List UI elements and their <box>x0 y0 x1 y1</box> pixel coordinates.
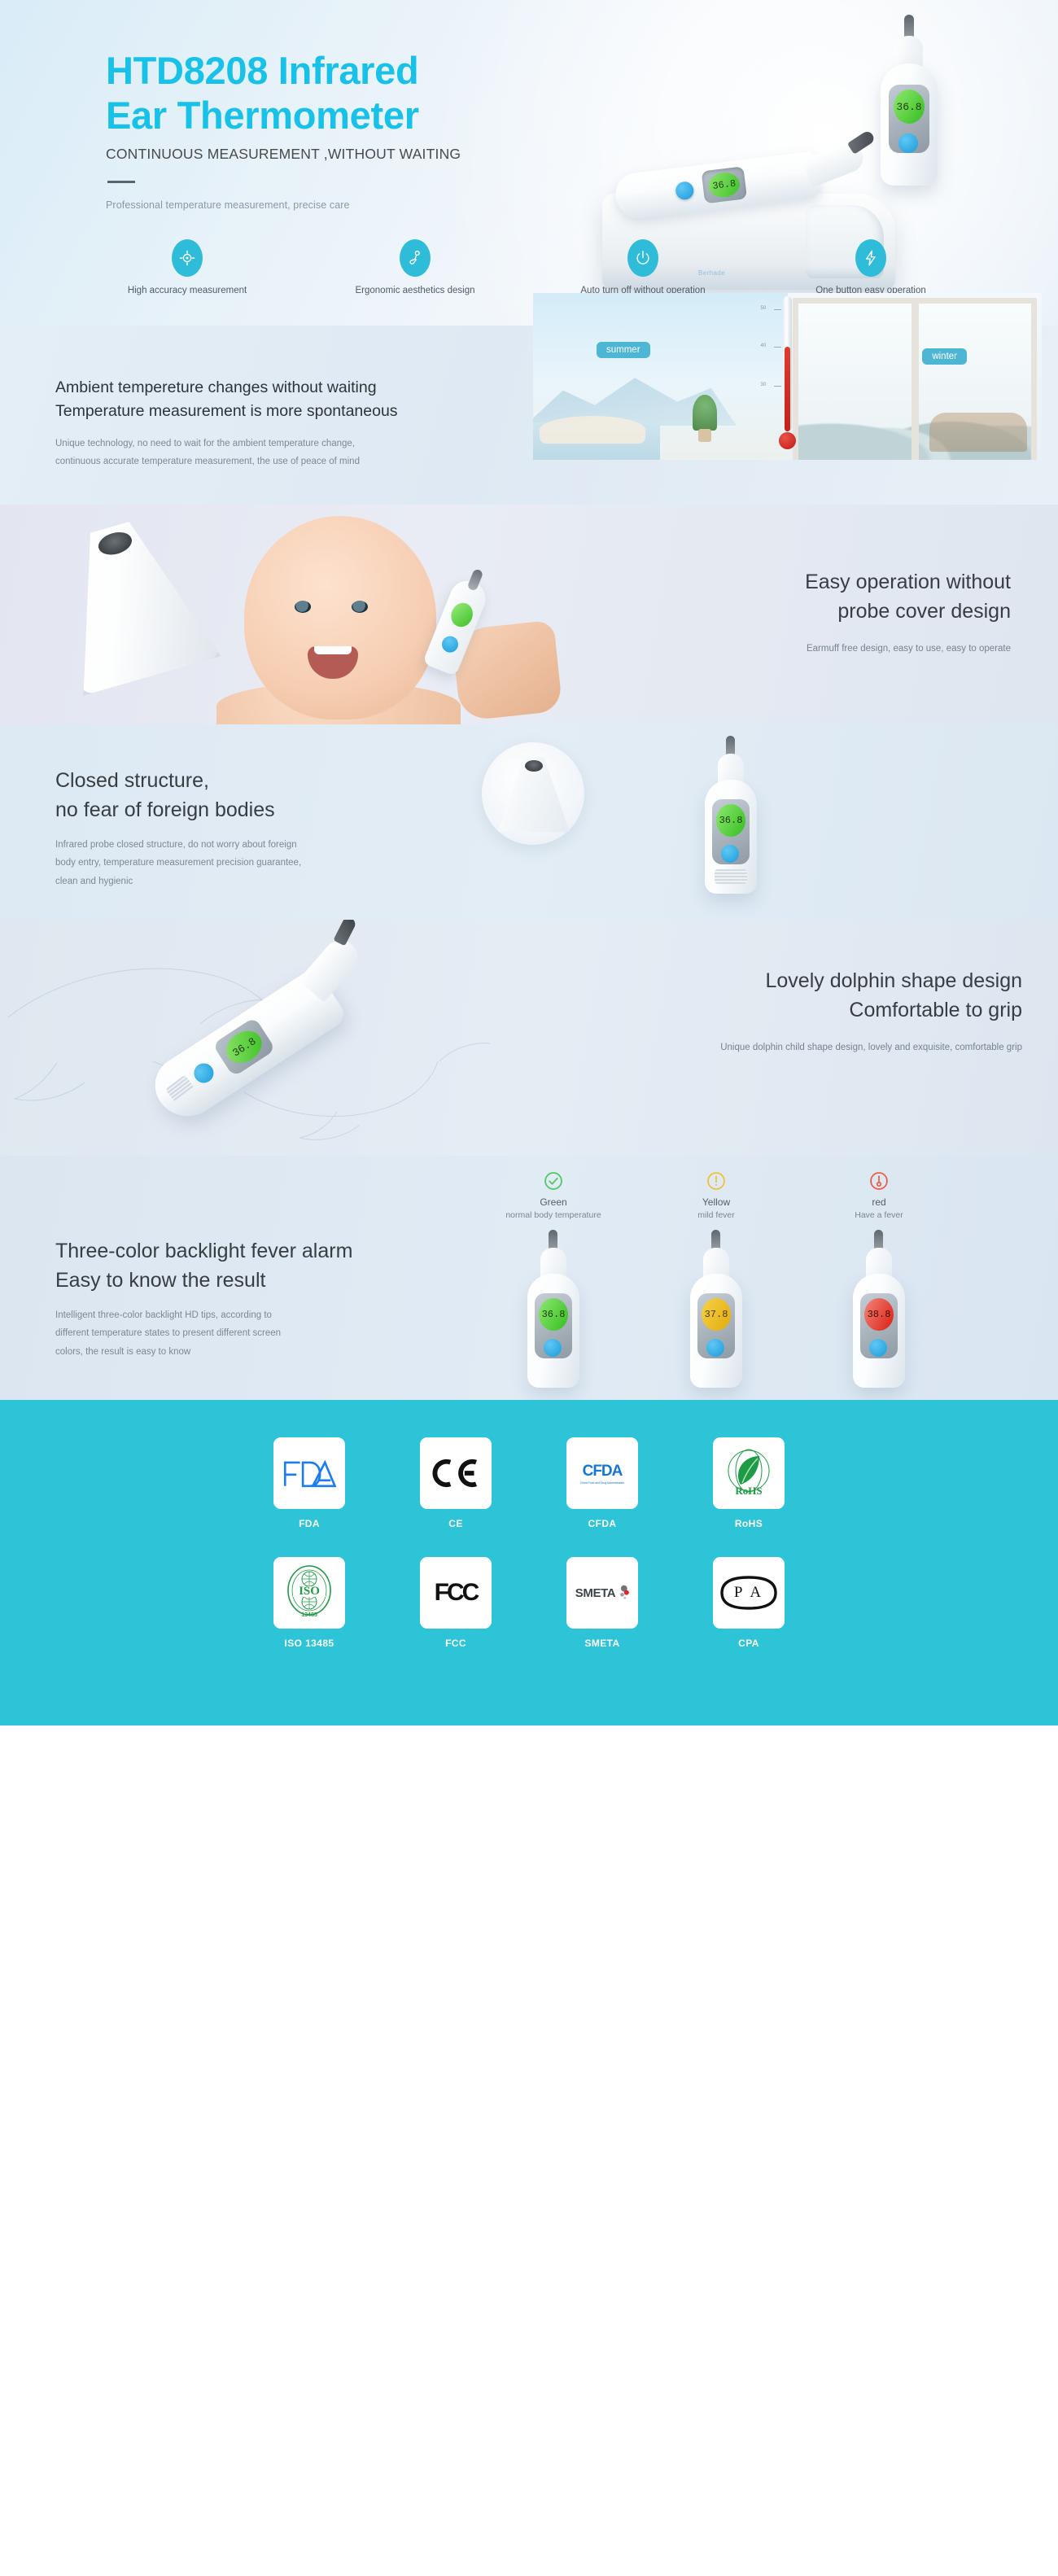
screen-reading: 37.8 <box>702 1298 731 1331</box>
winter-scene <box>788 293 1043 460</box>
hero-note: Professional temperature measurement, pr… <box>106 199 461 211</box>
closed-structure-text-block: Closed structure, no fear of foreign bod… <box>55 767 495 890</box>
product-detail-page: Berhade 36.8 36.8 HTD8 <box>0 0 1058 1725</box>
power-button <box>706 1339 724 1357</box>
heading-line-1: Closed structure, <box>55 767 495 796</box>
certification-smeta: SMETA SMETA <box>553 1557 652 1649</box>
baby-mouth <box>308 646 358 679</box>
cpa-mark-text: P A <box>734 1584 763 1602</box>
chairs-shape <box>929 413 1027 452</box>
cfda-subtitle: China Food and Drug Administration <box>580 1481 625 1485</box>
screen-reading: 36.8 <box>707 171 741 199</box>
heading-line-2: no fear of foreign bodies <box>55 796 495 825</box>
rohs-mark-icon: RoHS <box>720 1448 777 1498</box>
fcc-mark-text: FCC <box>435 1579 478 1607</box>
certification-label: FDA <box>299 1518 320 1529</box>
easy-operation-section: Easy operation without probe cover desig… <box>0 505 1058 724</box>
heading-line-1: Lovely dolphin shape design <box>566 967 1022 996</box>
summer-badge: summer <box>597 342 650 358</box>
rohs-logo: RoHS <box>713 1437 785 1509</box>
certification-label: FCC <box>445 1638 466 1649</box>
check-circle-icon <box>543 1170 564 1192</box>
baby-eye-left <box>295 601 311 613</box>
power-button <box>898 133 918 153</box>
body-line-3: clean and hygienic <box>55 873 495 890</box>
certification-iso: ISO 13485 ISO 13485 <box>260 1557 359 1649</box>
certification-ce: CE <box>406 1437 505 1529</box>
section-note: Earmuff free design, easy to use, easy t… <box>620 644 1011 654</box>
page-title: HTD8208 Infrared Ear Thermometer <box>106 49 461 138</box>
certification-label: CE <box>448 1518 462 1529</box>
thermometer-standing: 36.8 <box>698 736 763 908</box>
winter-badge: winter <box>922 348 967 365</box>
section-body: Infrared probe closed structure, do not … <box>55 836 495 890</box>
thermometer-circle-icon <box>868 1170 890 1192</box>
title-line-2: Ear Thermometer <box>106 94 461 138</box>
rohs-mark-text: RoHS <box>720 1485 777 1498</box>
deck-shape <box>540 416 645 444</box>
heading-line-2: Easy to know the result <box>55 1266 495 1296</box>
certification-label: CFDA <box>588 1518 617 1529</box>
cfda-mark-text: CFDA <box>580 1463 625 1480</box>
baby-eye-right <box>352 601 368 613</box>
battery-cover <box>715 869 747 884</box>
tick-label: 50 <box>761 306 767 311</box>
fcc-logo: FCC <box>420 1557 492 1629</box>
cpa-logo: P A <box>713 1557 785 1629</box>
easy-operation-text-block: Easy operation without probe cover desig… <box>620 568 1011 654</box>
section-body: Intelligent three-color backlight HD tip… <box>55 1306 495 1361</box>
plant-shape <box>693 395 717 431</box>
state-desc: normal body temperature <box>505 1210 601 1220</box>
probe-aperture <box>525 760 543 772</box>
certification-row-2: ISO 13485 ISO 13485 FCC FCC SMETA <box>0 1557 1058 1649</box>
feature-item-high-accuracy: High accuracy measurement <box>73 230 301 326</box>
hero-text-block: HTD8208 Infrared Ear Thermometer CONTINU… <box>106 49 461 211</box>
power-button <box>721 845 739 863</box>
body-line-2: continuous accurate temperature measurem… <box>55 453 511 470</box>
window-mullion <box>912 304 919 460</box>
body-line-1: Infrared probe closed structure, do not … <box>55 836 495 854</box>
state-name: Green <box>540 1196 566 1208</box>
probe-closeup-image <box>41 505 234 703</box>
dolphin-design-section: 36.8 Lovely dolphin shape design Comfort… <box>0 920 1058 1156</box>
heading-line-2: probe cover design <box>620 597 1011 627</box>
thermometer-standing: 37.8 <box>684 1230 749 1376</box>
certifications-section: FDA CE CFDA <box>0 1400 1058 1725</box>
certification-label: RoHS <box>735 1518 763 1529</box>
backlight-state-red: red Have a fever 38.8 <box>798 1170 960 1376</box>
thermometer-mercury <box>785 347 790 431</box>
certification-row-1: FDA CE CFDA <box>0 1437 1058 1529</box>
heading-line-1: Ambient tempereture changes without wait… <box>55 376 511 400</box>
cfda-logo: CFDA China Food and Drug Administration <box>566 1437 638 1509</box>
smeta-logo: SMETA <box>566 1557 638 1629</box>
hero-section: Berhade 36.8 36.8 HTD8 <box>0 0 1058 326</box>
dolphin-text-block: Lovely dolphin shape design Comfortable … <box>566 967 1022 1052</box>
tick-label: 30 <box>761 383 767 387</box>
ambient-illustration: 50 40 30 summer winter <box>533 293 1042 460</box>
certification-label: ISO 13485 <box>285 1638 334 1649</box>
lightning-icon <box>855 239 886 277</box>
heading-line-2: Temperature measurement is more spontane… <box>55 400 511 423</box>
feature-label: High accuracy measurement <box>128 286 247 295</box>
ce-logo <box>420 1437 492 1509</box>
backlight-state-list: Green normal body temperature 36.8 Yello… <box>472 1170 1042 1376</box>
state-desc: Have a fever <box>855 1210 903 1220</box>
probe-closeup-image <box>498 757 570 832</box>
wall-thermometer: 50 40 30 <box>775 296 801 451</box>
section-note: Unique dolphin child shape design, lovel… <box>566 1043 1022 1052</box>
thermometer-standing: 38.8 <box>846 1230 912 1376</box>
certification-rohs: RoHS RoHS <box>699 1437 798 1529</box>
section-heading: Easy operation without probe cover desig… <box>620 568 1011 626</box>
three-color-text-block: Three-color backlight fever alarm Easy t… <box>55 1237 495 1361</box>
power-icon <box>627 239 658 277</box>
iso-number: 13485 <box>283 1612 335 1618</box>
device-screen: 36.8 <box>702 166 747 203</box>
iso-mark-icon: ISO 13485 <box>283 1564 335 1621</box>
ce-mark-icon <box>431 1456 480 1490</box>
body-line-2: different temperature states to present … <box>55 1324 495 1342</box>
baby-photo <box>244 516 436 719</box>
backlight-state-yellow: Yellow mild fever 37.8 <box>635 1170 798 1376</box>
certification-label: CPA <box>738 1638 759 1649</box>
heading-line-1: Easy operation without <box>620 568 1011 597</box>
summer-scene <box>533 293 788 460</box>
certification-label: SMETA <box>584 1638 619 1649</box>
section-heading: Closed structure, no fear of foreign bod… <box>55 767 495 824</box>
screen-reading: 36.8 <box>539 1298 568 1331</box>
section-heading: Ambient tempereture changes without wait… <box>55 376 511 423</box>
iso-mark-text: ISO <box>283 1585 335 1599</box>
three-color-backlight-section: Three-color backlight fever alarm Easy t… <box>0 1156 1058 1400</box>
title-line-1: HTD8208 Infrared <box>106 49 461 94</box>
smeta-mark-text: SMETA <box>575 1586 615 1600</box>
power-button <box>544 1339 562 1357</box>
section-heading: Three-color backlight fever alarm Easy t… <box>55 1237 495 1295</box>
feature-item-ergonomic: Ergonomic aesthetics design <box>301 230 529 326</box>
screen-reading: 36.8 <box>716 804 745 837</box>
heading-line-2: Comfortable to grip <box>566 996 1022 1026</box>
certification-cpa: P A CPA <box>699 1557 798 1649</box>
body-line-1: Intelligent three-color backlight HD tip… <box>55 1306 495 1324</box>
screen-reading: 36.8 <box>894 90 925 124</box>
ambient-temperature-section: Ambient tempereture changes without wait… <box>0 326 1058 505</box>
thermometer-bulb <box>779 432 796 449</box>
state-name: Yellow <box>702 1196 730 1208</box>
cpa-mark-icon: P A <box>719 1575 779 1611</box>
ergonomic-hand-icon <box>400 239 431 277</box>
state-name: red <box>872 1196 885 1208</box>
probe-cone <box>41 508 221 696</box>
tick-label: 40 <box>761 343 767 348</box>
target-icon <box>172 239 203 277</box>
thermometer-standing: 36.8 <box>521 1230 586 1376</box>
certification-fcc: FCC FCC <box>406 1557 505 1649</box>
fda-logo <box>273 1437 345 1509</box>
ambient-text-block: Ambient tempereture changes without wait… <box>55 376 511 471</box>
state-desc: mild fever <box>697 1210 735 1220</box>
closed-structure-section: Closed structure, no fear of foreign bod… <box>0 724 1058 920</box>
heading-line-1: Three-color backlight fever alarm <box>55 1237 495 1266</box>
certification-fda: FDA <box>260 1437 359 1529</box>
backlight-state-green: Green normal body temperature 36.8 <box>472 1170 635 1376</box>
smeta-mark-icon: SMETA <box>575 1585 629 1601</box>
power-button <box>869 1339 887 1357</box>
body-line-1: Unique technology, no need to wait for t… <box>55 435 511 453</box>
feature-label: Ergonomic aesthetics design <box>355 286 474 295</box>
section-body: Unique technology, no need to wait for t… <box>55 435 511 471</box>
certification-cfda: CFDA China Food and Drug Administration … <box>553 1437 652 1529</box>
body-line-2: body entry, temperature measurement prec… <box>55 854 495 872</box>
divider <box>107 181 135 183</box>
fda-mark-icon <box>281 1457 338 1489</box>
thermometer-standing: 36.8 <box>871 15 946 218</box>
iso-logo: ISO 13485 <box>273 1557 345 1629</box>
section-heading: Lovely dolphin shape design Comfortable … <box>566 967 1022 1025</box>
screen-reading: 38.8 <box>864 1298 894 1331</box>
body-line-3: colors, the result is easy to know <box>55 1343 495 1361</box>
warning-circle-icon <box>706 1170 727 1192</box>
hero-subtitle: CONTINUOUS MEASUREMENT ,WITHOUT WAITING <box>106 146 461 163</box>
